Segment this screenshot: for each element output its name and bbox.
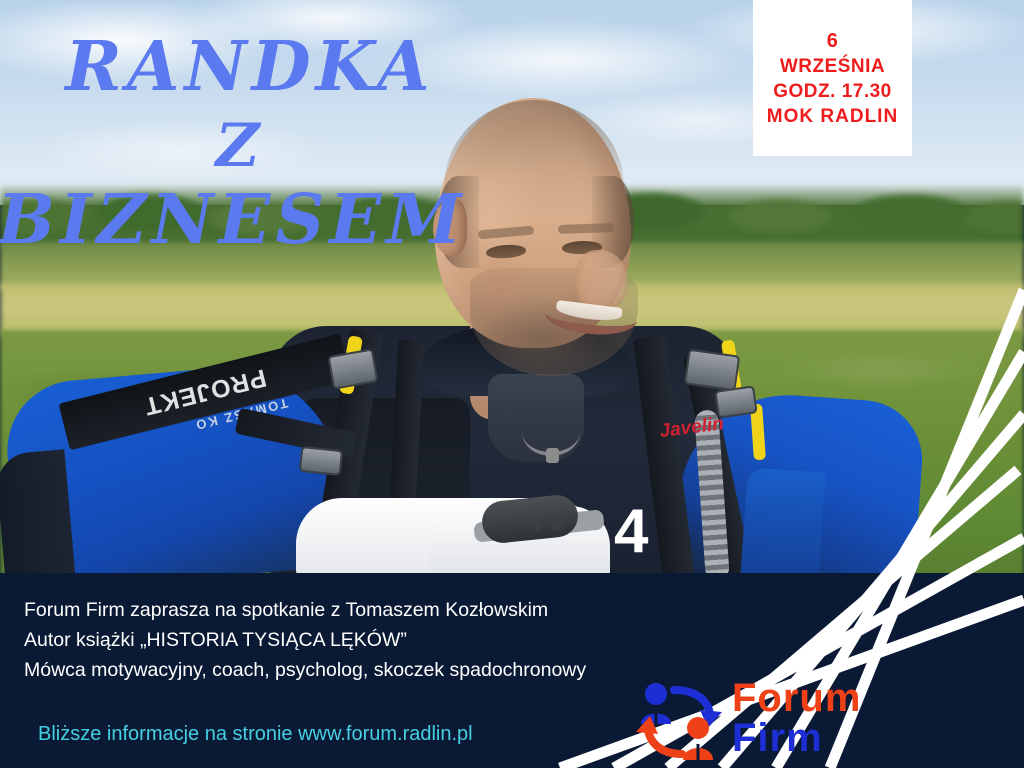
arrow-red-icon: [648, 730, 682, 754]
logo-word-forum: Forum: [732, 678, 861, 718]
suit-blue-panel: [740, 467, 825, 578]
logo-wordmark: Forum Firm: [732, 678, 861, 758]
description-line-1: Forum Firm zaprasza na spotkanie z Tomas…: [24, 595, 784, 625]
title-line-1: RANDKA: [30, 34, 470, 101]
event-day: 6: [827, 30, 839, 53]
website-link[interactable]: Bliższe informacje na stronie www.forum.…: [38, 723, 473, 746]
harness-buckle: [684, 349, 741, 392]
arrow-blue-icon: [674, 690, 710, 714]
date-time-box: 6 WRZEŚNIA GODZ. 17.30 MOK RADLIN: [753, 0, 912, 156]
pendant: [546, 448, 559, 463]
person-blue-head-icon: [645, 683, 667, 705]
event-poster: PROJEKT TOMASZ KO: [0, 0, 1024, 768]
logo-word-firm: Firm: [732, 718, 861, 758]
cheek: [472, 252, 532, 310]
description-block: Forum Firm zaprasza na spotkanie z Tomas…: [24, 595, 784, 685]
person-red-head-icon: [687, 717, 709, 739]
event-month: WRZEŚNIA: [780, 56, 885, 78]
title-line-2: Z: [10, 117, 470, 176]
description-line-2: Autor książki „HISTORIA TYSIĄCA LĘKÓW”: [24, 625, 784, 655]
event-time: GODZ. 17.30: [773, 81, 892, 103]
left-sleeve-cuff: [0, 449, 75, 578]
suit-number: 4: [614, 500, 674, 566]
poster-title: RANDKA Z BIZNESEM: [0, 0, 470, 254]
title-line-3: BIZNESEM: [0, 187, 470, 254]
logo-mark-icon: [636, 680, 728, 762]
event-venue: MOK RADLIN: [767, 106, 898, 128]
forum-firm-logo: Forum Firm: [636, 678, 936, 764]
harness-buckle: [299, 446, 343, 476]
